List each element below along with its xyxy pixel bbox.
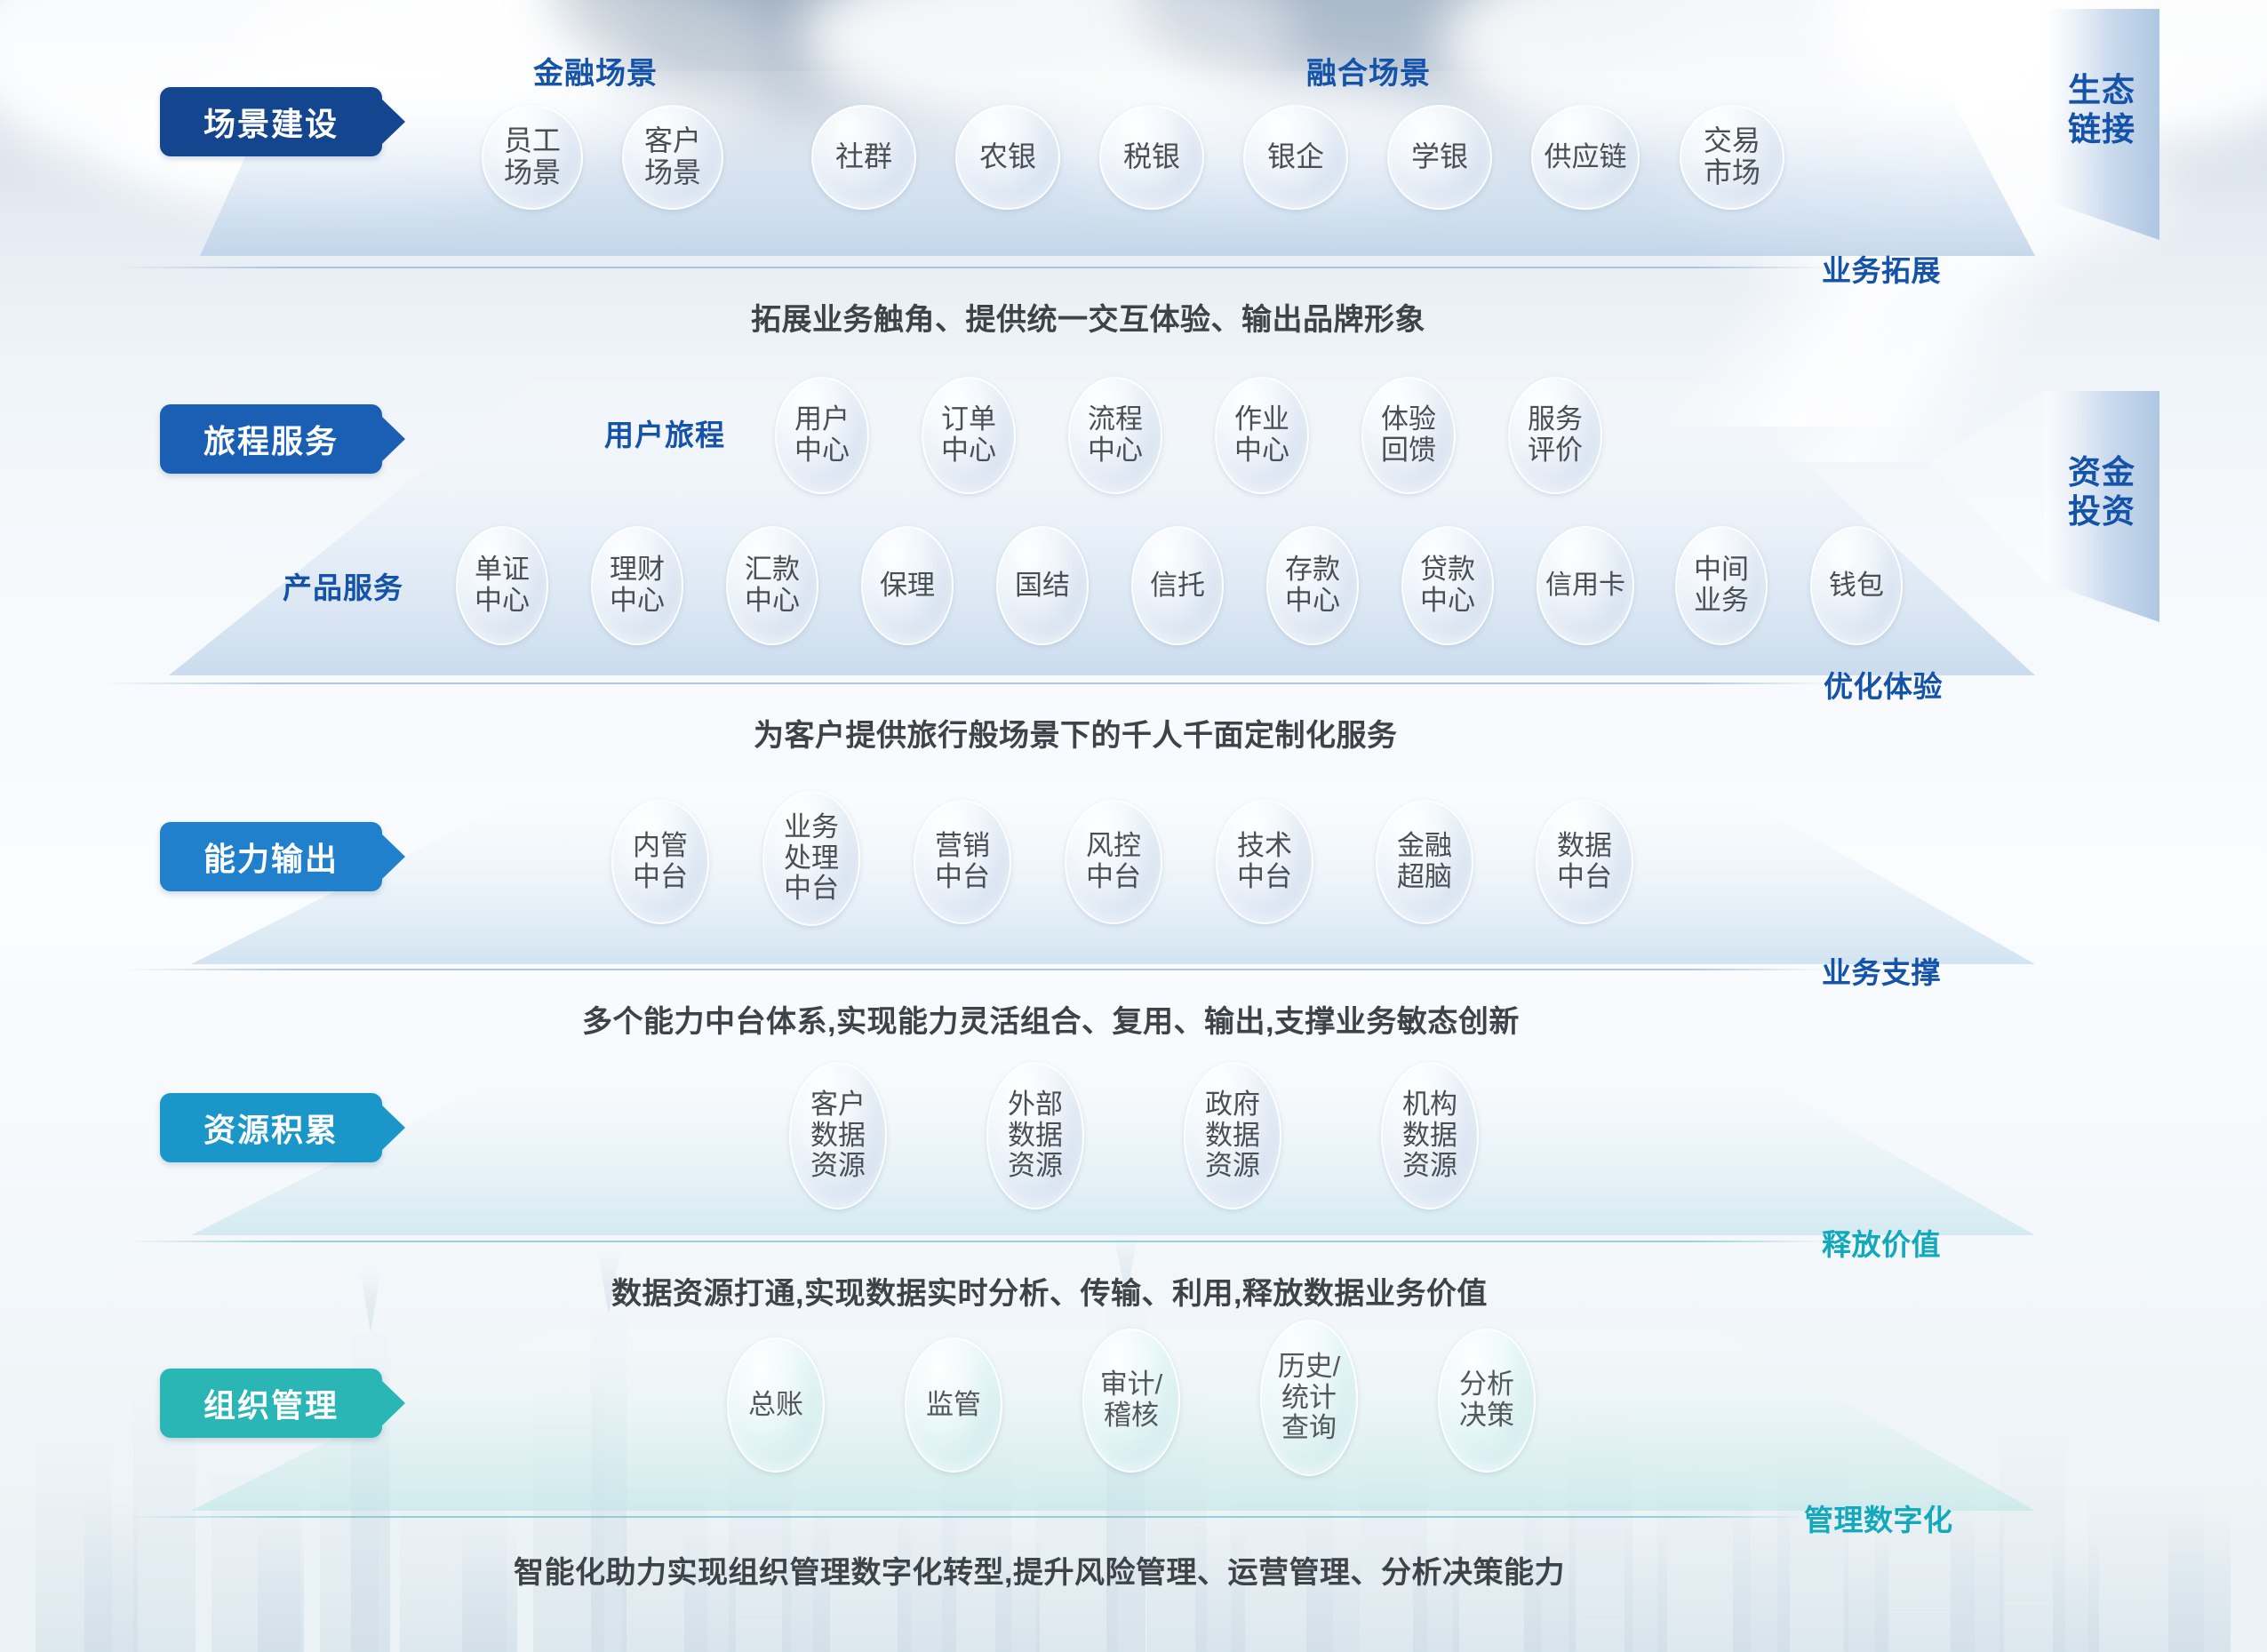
node-line: 回馈 — [1381, 435, 1436, 467]
group-caption-financial-scene: 金融场景 — [533, 49, 658, 92]
node-line: 信用卡 — [1545, 571, 1625, 601]
node-line: 中心 — [794, 435, 850, 467]
wedge-label-capital-investment: 资金 投资 — [2044, 453, 2159, 532]
node-resource-institution-data[interactable]: 机构 数据 资源 — [1381, 1062, 1479, 1209]
layer-pill-label: 场景建设 — [204, 99, 339, 145]
layer-pill-label: 资源积累 — [204, 1105, 339, 1151]
layer-pill-label: 能力输出 — [204, 834, 339, 880]
band-rule — [116, 267, 1831, 268]
node-product-deposit-center[interactable]: 存款 中心 — [1266, 526, 1359, 645]
node-line: 用户 — [794, 404, 850, 435]
node-scene-agri-bank[interactable]: 农银 — [955, 105, 1060, 210]
node-capability-internal-mgmt[interactable]: 内管 中台 — [611, 800, 709, 924]
node-line: 数据 — [1402, 1121, 1457, 1152]
node-line: 业务 — [1694, 586, 1749, 617]
node-line: 总账 — [748, 1390, 803, 1421]
row-caption-product-service: 产品服务 — [283, 564, 403, 607]
node-line: 理财 — [610, 555, 665, 586]
band-management-digitalization: 管理数字化 智能化助力实现组织管理数字化转型,提升风险管理、运营管理、分析决策能… — [0, 1516, 2267, 1623]
node-line: 中心 — [745, 586, 800, 617]
node-line: 服务 — [1528, 404, 1583, 435]
node-product-international-settlement[interactable]: 国结 — [996, 526, 1089, 645]
node-line: 外部 — [1008, 1089, 1063, 1121]
node-product-trust[interactable]: 信托 — [1131, 526, 1224, 645]
node-scene-tax-bank[interactable]: 税银 — [1099, 105, 1204, 210]
band-rule — [124, 1241, 1826, 1242]
node-line: 保理 — [880, 571, 935, 602]
node-line: 决策 — [1459, 1401, 1514, 1432]
node-resource-external-data[interactable]: 外部 数据 资源 — [986, 1062, 1084, 1209]
node-org-analysis-decision[interactable]: 分析 决策 — [1438, 1329, 1536, 1472]
node-capability-financial-brain[interactable]: 金融 超脑 — [1376, 800, 1473, 924]
band-caption-release-value: 数据资源打通,实现数据实时分析、传输、利用,释放数据业务价值 — [611, 1269, 1488, 1313]
node-line: 订单 — [941, 404, 996, 435]
layer-pill-scene-building[interactable]: 场景建设 — [160, 87, 382, 156]
node-line: 学银 — [1411, 141, 1468, 173]
node-scene-employee[interactable]: 员工 场景 — [482, 105, 583, 210]
node-line: 单证 — [475, 555, 530, 586]
node-line: 金融 — [1397, 831, 1452, 862]
node-line: 内管 — [633, 831, 688, 862]
band-tag-optimize-experience: 优化体验 — [1824, 663, 1943, 706]
node-line: 贷款 — [1420, 555, 1475, 586]
node-line: 交易 — [1704, 125, 1760, 157]
node-line: 市场 — [1704, 157, 1760, 189]
node-line: 场景 — [504, 157, 561, 189]
node-product-document-center[interactable]: 单证 中心 — [456, 526, 548, 645]
node-line: 中台 — [1237, 862, 1292, 893]
band-business-expansion: 业务拓展 拓展业务触角、提供统一交互体验、输出品牌形象 — [0, 267, 2267, 364]
node-line: 信托 — [1150, 571, 1205, 602]
band-tag-management-digitalization: 管理数字化 — [1804, 1496, 1953, 1539]
group-caption-fusion-scene: 融合场景 — [1306, 49, 1431, 92]
wedge-line: 链接 — [2044, 110, 2159, 149]
node-org-general-ledger[interactable]: 总账 — [727, 1337, 825, 1472]
node-line: 中心 — [1234, 435, 1289, 467]
node-product-intermediary-business[interactable]: 中间 业务 — [1675, 526, 1768, 645]
node-line: 历史/ — [1278, 1352, 1341, 1383]
node-line: 稽核 — [1104, 1401, 1159, 1432]
band-rule — [124, 969, 1826, 970]
layer-pill-resource-accumulation[interactable]: 资源积累 — [160, 1093, 382, 1162]
node-line: 处理 — [784, 843, 839, 874]
node-capability-data[interactable]: 数据 中台 — [1536, 800, 1633, 924]
band-caption-business-support: 多个能力中台体系,实现能力灵活组合、复用、输出,支撑业务敏态创新 — [582, 997, 1520, 1041]
node-line: 存款 — [1285, 555, 1340, 586]
node-product-factoring[interactable]: 保理 — [861, 526, 954, 645]
layer-pill-journey-service[interactable]: 旅程服务 — [160, 404, 382, 474]
node-line: 中心 — [1420, 586, 1475, 617]
node-line: 数据 — [810, 1121, 866, 1152]
node-capability-risk-control[interactable]: 风控 中台 — [1065, 800, 1162, 924]
node-line: 员工 — [504, 125, 561, 157]
node-org-history-statistics-query[interactable]: 历史/ 统计 查询 — [1260, 1320, 1358, 1476]
node-line: 资源 — [810, 1151, 866, 1182]
wedge-label-eco-link: 生态 链接 — [2044, 71, 2159, 150]
node-line: 作业 — [1234, 404, 1289, 435]
node-line: 流程 — [1088, 404, 1143, 435]
node-line: 客户 — [810, 1089, 866, 1121]
node-line: 中间 — [1694, 555, 1749, 586]
band-business-support: 业务支撑 多个能力中台体系,实现能力灵活组合、复用、输出,支撑业务敏态创新 — [0, 969, 2267, 1066]
node-line: 中心 — [941, 435, 996, 467]
node-line: 供应链 — [1545, 142, 1627, 173]
node-journey-experience-feedback[interactable]: 体验 回馈 — [1361, 377, 1456, 494]
node-line: 查询 — [1281, 1413, 1337, 1444]
node-line: 监管 — [926, 1390, 981, 1421]
node-line: 评价 — [1528, 435, 1583, 467]
node-line: 超脑 — [1397, 862, 1452, 893]
node-scene-community[interactable]: 社群 — [811, 105, 916, 210]
node-scene-trading-market[interactable]: 交易 市场 — [1680, 105, 1784, 210]
wedge-line: 资金 — [2044, 453, 2159, 492]
node-line: 机构 — [1402, 1089, 1457, 1121]
node-line: 中心 — [475, 586, 530, 617]
node-line: 税银 — [1123, 141, 1180, 173]
node-scene-customer[interactable]: 客户 场景 — [622, 105, 723, 210]
node-line: 中心 — [610, 586, 665, 617]
node-line: 数据 — [1205, 1121, 1260, 1152]
band-caption-business-expansion: 拓展业务触角、提供统一交互体验、输出品牌形象 — [751, 295, 1425, 339]
node-journey-process-center[interactable]: 流程 中心 — [1068, 377, 1162, 494]
node-line: 社群 — [835, 141, 892, 173]
node-line: 数据 — [1008, 1121, 1063, 1152]
node-line: 风控 — [1086, 831, 1141, 862]
node-line: 中心 — [1088, 435, 1143, 467]
node-line: 统计 — [1281, 1383, 1337, 1414]
node-product-credit-card[interactable]: 信用卡 — [1537, 526, 1634, 645]
node-product-remittance-center[interactable]: 汇款 中心 — [726, 526, 818, 645]
node-line: 钱包 — [1829, 571, 1884, 602]
node-line: 中台 — [784, 874, 839, 905]
node-line: 审计/ — [1100, 1369, 1163, 1401]
node-line: 中台 — [1086, 862, 1141, 893]
node-journey-order-center[interactable]: 订单 中心 — [922, 377, 1016, 494]
node-line: 中台 — [935, 862, 990, 893]
layer-pill-label: 旅程服务 — [204, 416, 339, 462]
node-line: 中台 — [1557, 862, 1612, 893]
layer-pill-capability-output[interactable]: 能力输出 — [160, 822, 382, 891]
node-capability-technology[interactable]: 技术 中台 — [1216, 800, 1313, 924]
node-org-supervision[interactable]: 监管 — [905, 1337, 1002, 1472]
node-line: 汇款 — [745, 555, 800, 586]
node-line: 业务 — [784, 812, 839, 843]
node-capability-business-processing[interactable]: 业务 处理 中台 — [762, 791, 860, 926]
node-line: 农银 — [979, 141, 1036, 173]
node-journey-operation-center[interactable]: 作业 中心 — [1215, 377, 1309, 494]
row-caption-user-journey: 用户旅程 — [604, 411, 725, 454]
node-journey-user-center[interactable]: 用户 中心 — [775, 377, 869, 494]
node-line: 中心 — [1285, 586, 1340, 617]
node-line: 分析 — [1459, 1369, 1514, 1401]
node-line: 体验 — [1381, 404, 1436, 435]
node-product-wealth-center[interactable]: 理财 中心 — [591, 526, 683, 645]
layer-pill-organization-management[interactable]: 组织管理 — [160, 1369, 382, 1438]
band-rule — [102, 682, 1831, 684]
node-product-wallet[interactable]: 钱包 — [1810, 526, 1903, 645]
node-scene-school-bank[interactable]: 学银 — [1387, 105, 1492, 210]
wedge-line: 投资 — [2044, 492, 2159, 531]
node-line: 资源 — [1008, 1151, 1063, 1182]
band-tag-business-support: 业务支撑 — [1822, 949, 1941, 992]
node-line: 技术 — [1237, 831, 1292, 862]
node-line: 资源 — [1205, 1151, 1260, 1182]
node-capability-marketing[interactable]: 营销 中台 — [914, 800, 1011, 924]
node-scene-bank-enterprise[interactable]: 银企 — [1243, 105, 1348, 210]
node-line: 国结 — [1015, 571, 1070, 602]
wedge-line: 生态 — [2044, 71, 2159, 110]
band-caption-management-digitalization: 智能化助力实现组织管理数字化转型,提升风险管理、运营管理、分析决策能力 — [514, 1548, 1565, 1592]
node-line: 银企 — [1267, 141, 1324, 173]
node-journey-service-evaluation[interactable]: 服务 评价 — [1508, 377, 1602, 494]
node-line: 客户 — [644, 125, 701, 157]
node-line: 数据 — [1557, 831, 1612, 862]
band-tag-release-value: 释放价值 — [1822, 1221, 1941, 1264]
node-line: 资源 — [1402, 1151, 1457, 1182]
node-resource-government-data[interactable]: 政府 数据 资源 — [1184, 1062, 1281, 1209]
node-product-loan-center[interactable]: 贷款 中心 — [1401, 526, 1494, 645]
band-optimize-experience: 优化体验 为客户提供旅行般场景下的千人千面定制化服务 — [0, 682, 2267, 780]
band-release-value: 释放价值 数据资源打通,实现数据实时分析、传输、利用,释放数据业务价值 — [0, 1241, 2267, 1338]
layer-pill-label: 组织管理 — [204, 1380, 339, 1426]
node-org-audit-inspection[interactable]: 审计/ 稽核 — [1082, 1329, 1180, 1472]
band-rule — [124, 1516, 1808, 1518]
node-line: 场景 — [644, 157, 701, 189]
node-line: 中台 — [633, 862, 688, 893]
node-scene-supply-chain[interactable]: 供应链 — [1531, 105, 1640, 210]
node-resource-customer-data[interactable]: 客户 数据 资源 — [789, 1062, 887, 1209]
band-tag-business-expansion: 业务拓展 — [1822, 247, 1941, 290]
node-line: 政府 — [1205, 1089, 1260, 1121]
node-line: 营销 — [935, 831, 990, 862]
band-caption-optimize-experience: 为客户提供旅行般场景下的千人千面定制化服务 — [754, 711, 1398, 754]
